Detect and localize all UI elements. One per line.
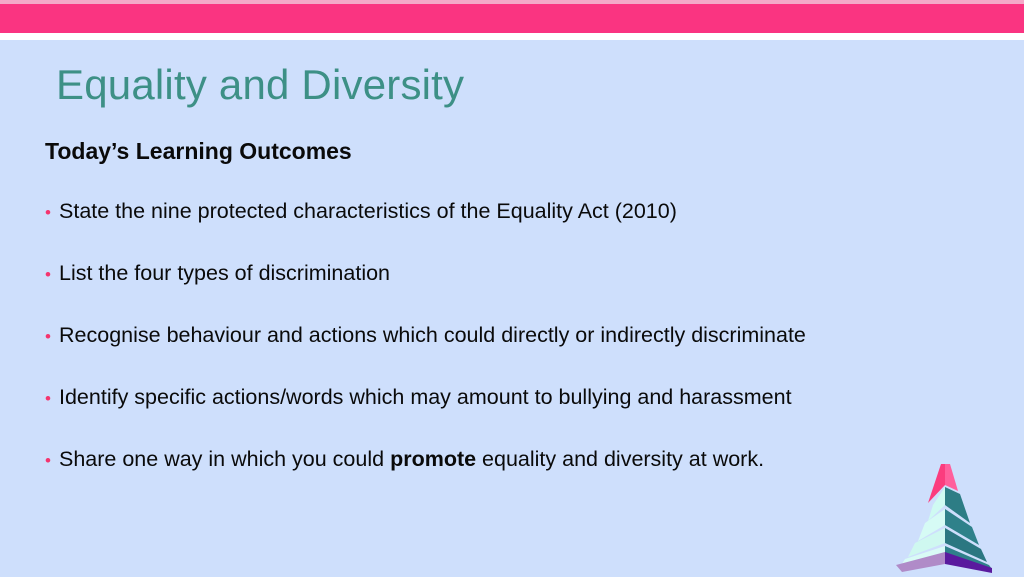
learning-outcomes-list: • State the nine protected characteristi… bbox=[45, 198, 995, 508]
top-pink-bar bbox=[0, 4, 1024, 33]
list-item-text: State the nine protected characteristics… bbox=[59, 198, 995, 224]
list-item-text: Identify specific actions/words which ma… bbox=[59, 384, 995, 410]
stylized-tree-logo bbox=[884, 461, 1006, 573]
list-item: • Identify specific actions/words which … bbox=[45, 384, 995, 446]
list-item: • Recognise behaviour and actions which … bbox=[45, 322, 995, 384]
slide-canvas: Equality and Diversity Today’s Learning … bbox=[0, 40, 1024, 577]
list-item-text: Recognise behaviour and actions which co… bbox=[59, 322, 995, 348]
list-item-text: List the four types of discrimination bbox=[59, 260, 995, 286]
list-item: • Share one way in which you could promo… bbox=[45, 446, 995, 508]
bullet-dot-icon: • bbox=[45, 387, 59, 411]
learning-outcomes-heading: Today’s Learning Outcomes bbox=[45, 137, 352, 165]
bullet-dot-icon: • bbox=[45, 449, 59, 473]
slide: Equality and Diversity Today’s Learning … bbox=[0, 0, 1024, 577]
list-item-text-emphasis: promote bbox=[390, 447, 476, 471]
top-white-gap bbox=[0, 33, 1024, 40]
bullet-dot-icon: • bbox=[45, 263, 59, 287]
list-item-text-suffix: equality and diversity at work. bbox=[476, 447, 764, 471]
logo-tip-right-shape bbox=[945, 464, 958, 491]
list-item: • List the four types of discrimination bbox=[45, 260, 995, 322]
list-item: • State the nine protected characteristi… bbox=[45, 198, 995, 260]
page-title: Equality and Diversity bbox=[56, 60, 464, 110]
bullet-dot-icon: • bbox=[45, 201, 59, 225]
bullet-dot-icon: • bbox=[45, 325, 59, 349]
list-item-text: Share one way in which you could promote… bbox=[59, 446, 995, 472]
logo-base-right bbox=[945, 552, 992, 573]
list-item-text-prefix: Share one way in which you could bbox=[59, 447, 390, 471]
